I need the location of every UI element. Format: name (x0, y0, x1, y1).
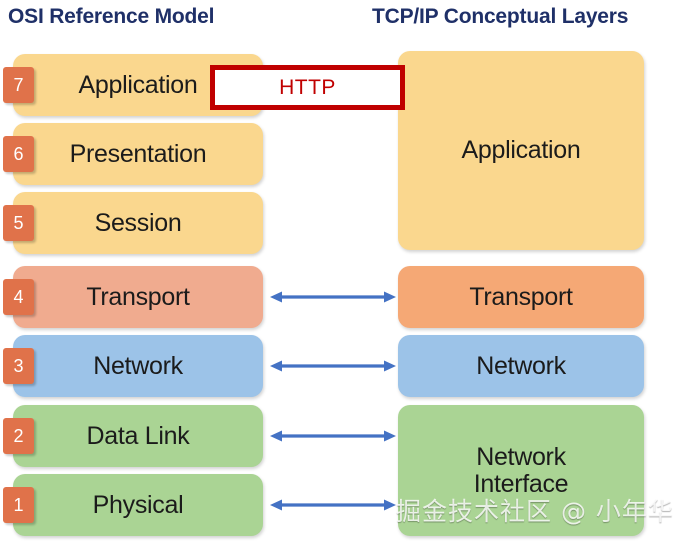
osi-layer-number-badge-6: 6 (3, 136, 34, 172)
osi-layer-number-badge-3: 3 (3, 348, 34, 384)
arrow-datalink (270, 429, 396, 443)
watermark-text: 掘金技术社区 @ 小年华 (396, 492, 671, 528)
osi-tcpip-diagram: OSI Reference Model TCP/IP Conceptual La… (0, 0, 677, 544)
tcpip-layer-network[interactable]: Network (398, 335, 644, 397)
osi-layer-number-badge-7: 7 (3, 67, 34, 103)
osi-layer-label: Session (95, 210, 182, 237)
osi-layer-label: Network (93, 353, 183, 380)
tcpip-layer-label: Network (476, 353, 566, 380)
osi-layer-data-link[interactable]: Data Link (13, 405, 263, 467)
osi-layer-label: Application (78, 72, 197, 99)
http-protocol-label: HTTP (210, 65, 405, 110)
osi-layer-number-badge-4: 4 (3, 279, 34, 315)
osi-layer-session[interactable]: Session (13, 192, 263, 254)
osi-layer-label: Presentation (70, 141, 207, 168)
osi-column-title: OSI Reference Model (8, 5, 214, 29)
osi-layer-presentation[interactable]: Presentation (13, 123, 263, 185)
arrow-physical (270, 498, 396, 512)
tcpip-layer-application[interactable]: Application (398, 51, 644, 250)
osi-layer-physical[interactable]: Physical (13, 474, 263, 536)
tcpip-layer-label: Transport (469, 284, 572, 311)
tcpip-column-title: TCP/IP Conceptual Layers (372, 5, 628, 29)
osi-layer-transport[interactable]: Transport (13, 266, 263, 328)
tcpip-layer-label: Network Interface (474, 444, 569, 498)
arrow-transport (270, 290, 396, 304)
osi-layer-number-badge-2: 2 (3, 418, 34, 454)
osi-layer-number-badge-1: 1 (3, 487, 34, 523)
osi-layer-number-badge-5: 5 (3, 205, 34, 241)
osi-layer-label: Transport (86, 284, 189, 311)
osi-layer-label: Data Link (87, 423, 190, 450)
tcpip-layer-transport[interactable]: Transport (398, 266, 644, 328)
tcpip-layer-label: Application (461, 137, 580, 164)
osi-layer-network[interactable]: Network (13, 335, 263, 397)
osi-layer-label: Physical (93, 492, 184, 519)
arrow-network (270, 359, 396, 373)
